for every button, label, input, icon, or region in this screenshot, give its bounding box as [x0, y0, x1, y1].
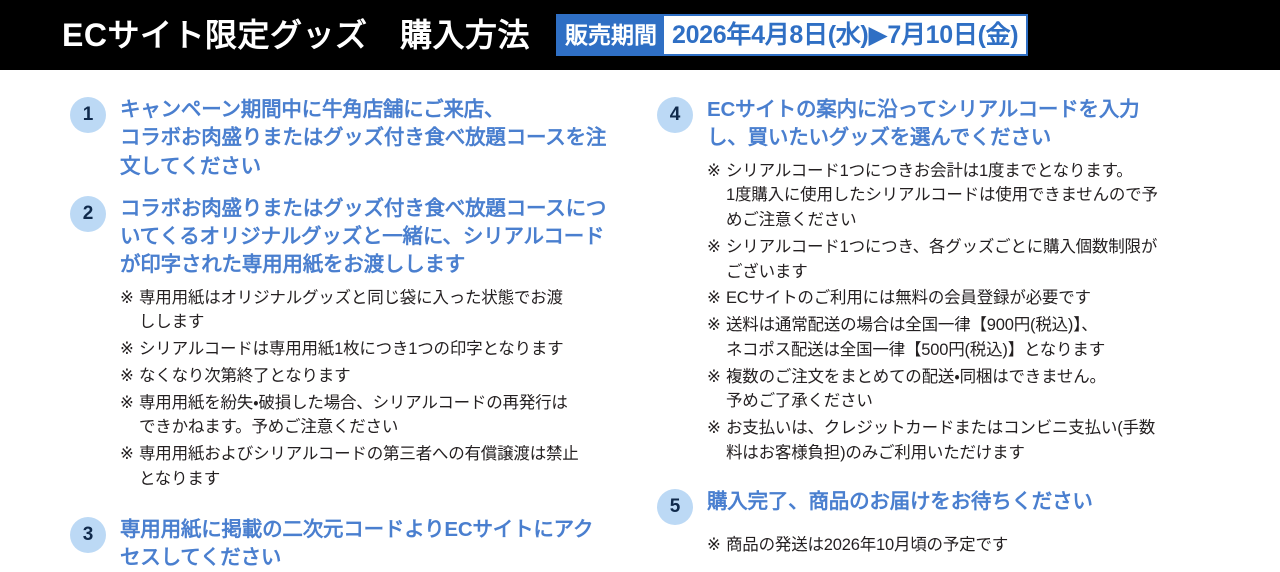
note-mark-icon: ※ — [120, 364, 139, 389]
note-mark-icon: ※ — [120, 391, 139, 416]
step-3: 3 専用用紙に掲載の二次元コードよりECサイトにアク セスしてください — [70, 516, 640, 572]
note-text: 専用用紙およびシリアルコードの第三者への有償譲渡は禁止 となります — [139, 442, 579, 492]
note-item: ※ ECサイトのご利用には無料の会員登録が必要です — [707, 286, 1280, 311]
step-2-number-badge: 2 — [70, 196, 106, 232]
note-item: ※ なくなり次第終了となります — [120, 364, 640, 389]
sale-period-value: 2026年4月8日(水)▶7月10日(金) — [664, 16, 1026, 54]
step-3-head: 3 専用用紙に掲載の二次元コードよりECサイトにアク セスしてください — [70, 516, 640, 572]
note-item: ※ 専用用紙を紛失・破損した場合、シリアルコードの再発行は できかねます。予めご… — [120, 391, 640, 441]
step-3-title: 専用用紙に掲載の二次元コードよりECサイトにアク セスしてください — [120, 516, 593, 572]
step-5-head: 5 購入完了、商品のお届けをお待ちください — [657, 488, 1280, 525]
sale-period-label: 販売期間 — [558, 16, 664, 54]
note-mark-icon: ※ — [707, 235, 726, 260]
note-item: ※ 専用用紙はオリジナルグッズと同じ袋に入った状態でお渡 しします — [120, 286, 640, 336]
step-4-title: ECサイトの案内に沿ってシリアルコードを入力 し、買いたいグッズを選んでください — [707, 96, 1139, 153]
right-column: 4 ECサイトの案内に沿ってシリアルコードを入力 し、買いたいグッズを選んでくだ… — [640, 70, 1280, 561]
note-mark-icon: ※ — [707, 416, 726, 441]
step-1-number-badge: 1 — [70, 97, 106, 133]
page-title: ECサイト限定グッズ 購入方法 — [62, 19, 530, 51]
step-4-notes: ※ シリアルコード1つにつきお会計は1度までとなります。 1度購入に使用したシリ… — [707, 159, 1280, 466]
note-text: 商品の発送は2026年10月頃の予定です — [726, 533, 1008, 558]
step-1-head: 1 キャンペーン期間中に牛角店舗にご来店、 コラボお肉盛りまたはグッズ付き食べ放… — [70, 96, 640, 181]
step-2-head: 2 コラボお肉盛りまたはグッズ付き食べ放題コースにつ いてくるオリジナルグッズと… — [70, 195, 640, 280]
step-4-head: 4 ECサイトの案内に沿ってシリアルコードを入力 し、買いたいグッズを選んでくだ… — [657, 96, 1280, 153]
step-4: 4 ECサイトの案内に沿ってシリアルコードを入力 し、買いたいグッズを選んでくだ… — [657, 96, 1280, 466]
step-2: 2 コラボお肉盛りまたはグッズ付き食べ放題コースにつ いてくるオリジナルグッズと… — [70, 195, 640, 492]
step-5-number-badge: 5 — [657, 489, 693, 525]
note-item: ※ シリアルコード1つにつき、各グッズごとに購入個数制限が ございます — [707, 235, 1280, 285]
note-text: ECサイトのご利用には無料の会員登録が必要です — [726, 286, 1091, 311]
note-text: シリアルコード1つにつきお会計は1度までとなります。 1度購入に使用したシリアル… — [726, 159, 1158, 233]
note-text: お支払いは、クレジットカードまたはコンビニ支払い(手数 料はお客様負担)のみご利… — [726, 416, 1155, 466]
note-item: ※ 送料は通常配送の場合は全国一律【900円(税込)】、 ネコポス配送は全国一律… — [707, 313, 1280, 363]
step-2-notes: ※ 専用用紙はオリジナルグッズと同じ袋に入った状態でお渡 しします ※ シリアル… — [120, 286, 640, 492]
note-mark-icon: ※ — [707, 313, 726, 338]
step-1-title: キャンペーン期間中に牛角店舗にご来店、 コラボお肉盛りまたはグッズ付き食べ放題コ… — [120, 96, 606, 181]
note-mark-icon: ※ — [120, 442, 139, 467]
step-5-notes: ※ 商品の発送は2026年10月頃の予定です — [707, 533, 1280, 558]
note-item: ※ お支払いは、クレジットカードまたはコンビニ支払い(手数 料はお客様負担)のみ… — [707, 416, 1280, 466]
note-item: ※ シリアルコードは専用用紙1枚につき1つの印字となります — [120, 337, 640, 362]
note-mark-icon: ※ — [707, 286, 726, 311]
steps-content: 1 キャンペーン期間中に牛角店舗にご来店、 コラボお肉盛りまたはグッズ付き食べ放… — [0, 70, 1280, 561]
note-text: 専用用紙を紛失・破損した場合、シリアルコードの再発行は できかねます。予めご注意… — [139, 391, 568, 441]
note-text: 送料は通常配送の場合は全国一律【900円(税込)】、 ネコポス配送は全国一律【5… — [726, 313, 1105, 363]
note-mark-icon: ※ — [707, 365, 726, 390]
step-3-number-badge: 3 — [70, 517, 106, 553]
note-mark-icon: ※ — [707, 533, 726, 558]
step-4-number-badge: 4 — [657, 97, 693, 133]
left-column: 1 キャンペーン期間中に牛角店舗にご来店、 コラボお肉盛りまたはグッズ付き食べ放… — [0, 70, 640, 561]
note-item: ※ 複数のご注文をまとめての配送・同梱はできません。 予めご了承ください — [707, 365, 1280, 415]
note-item: ※ 専用用紙およびシリアルコードの第三者への有償譲渡は禁止 となります — [120, 442, 640, 492]
note-mark-icon: ※ — [707, 159, 726, 184]
note-item: ※ シリアルコード1つにつきお会計は1度までとなります。 1度購入に使用したシリ… — [707, 159, 1280, 233]
note-text: シリアルコードは専用用紙1枚につき1つの印字となります — [139, 337, 563, 362]
step-2-title: コラボお肉盛りまたはグッズ付き食べ放題コースにつ いてくるオリジナルグッズと一緒… — [120, 195, 606, 280]
note-mark-icon: ※ — [120, 286, 139, 311]
sale-period-badge: 販売期間 2026年4月8日(水)▶7月10日(金) — [556, 14, 1028, 56]
step-5-title: 購入完了、商品のお届けをお待ちください — [707, 488, 1093, 516]
step-1: 1 キャンペーン期間中に牛角店舗にご来店、 コラボお肉盛りまたはグッズ付き食べ放… — [70, 96, 640, 181]
note-text: なくなり次第終了となります — [139, 364, 350, 389]
note-text: 複数のご注文をまとめての配送・同梱はできません。 予めご了承ください — [726, 365, 1106, 415]
note-mark-icon: ※ — [120, 337, 139, 362]
header-bar: ECサイト限定グッズ 購入方法 販売期間 2026年4月8日(水)▶7月10日(… — [0, 0, 1280, 70]
note-text: シリアルコード1つにつき、各グッズごとに購入個数制限が ございます — [726, 235, 1157, 285]
note-text: 専用用紙はオリジナルグッズと同じ袋に入った状態でお渡 しします — [139, 286, 563, 336]
step-5: 5 購入完了、商品のお届けをお待ちください ※ 商品の発送は2026年10月頃の… — [657, 488, 1280, 558]
note-item: ※ 商品の発送は2026年10月頃の予定です — [707, 533, 1280, 558]
